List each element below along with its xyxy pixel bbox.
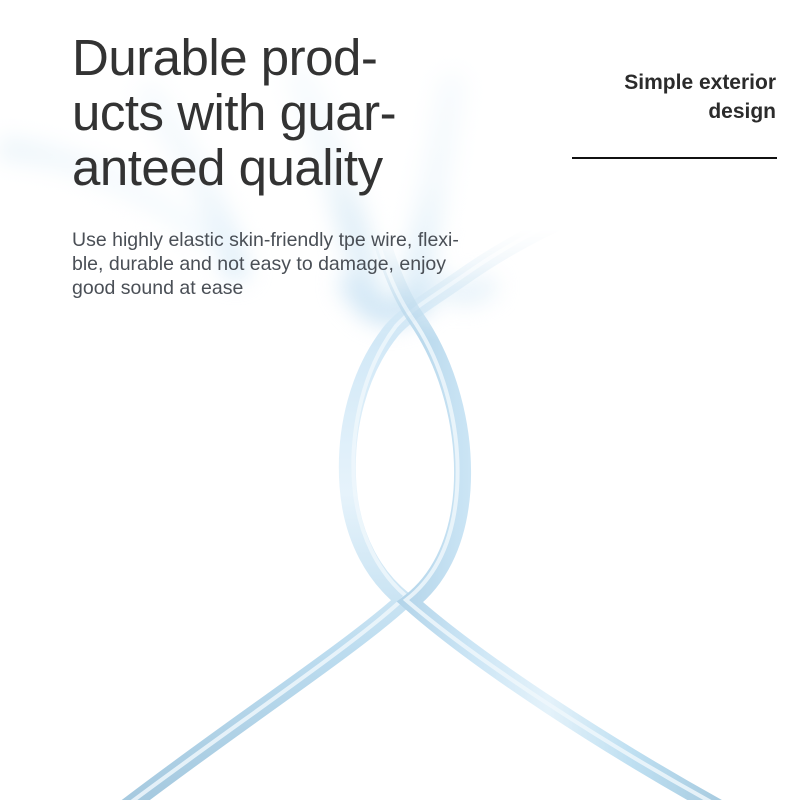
body-copy-line-2: ble, durable and not easy to damage, enj… bbox=[72, 252, 552, 276]
headline: Durable prod- ucts with guar- anteed qua… bbox=[72, 30, 452, 195]
headline-line-3: anteed quality bbox=[72, 140, 452, 195]
product-banner: Durable prod- ucts with guar- anteed qua… bbox=[0, 0, 800, 800]
side-label-underline-rule bbox=[572, 157, 777, 159]
side-label: Simple exterior design bbox=[536, 68, 776, 126]
headline-line-2: ucts with guar- bbox=[72, 85, 452, 140]
headline-line-1: Durable prod- bbox=[72, 30, 452, 85]
body-copy-line-1: Use highly elastic skin-friendly tpe wir… bbox=[72, 228, 552, 252]
body-copy: Use highly elastic skin-friendly tpe wir… bbox=[72, 228, 552, 300]
body-copy-line-3: good sound at ease bbox=[72, 276, 552, 300]
side-label-line-1: Simple exterior bbox=[536, 68, 776, 97]
side-label-line-2: design bbox=[536, 97, 776, 126]
